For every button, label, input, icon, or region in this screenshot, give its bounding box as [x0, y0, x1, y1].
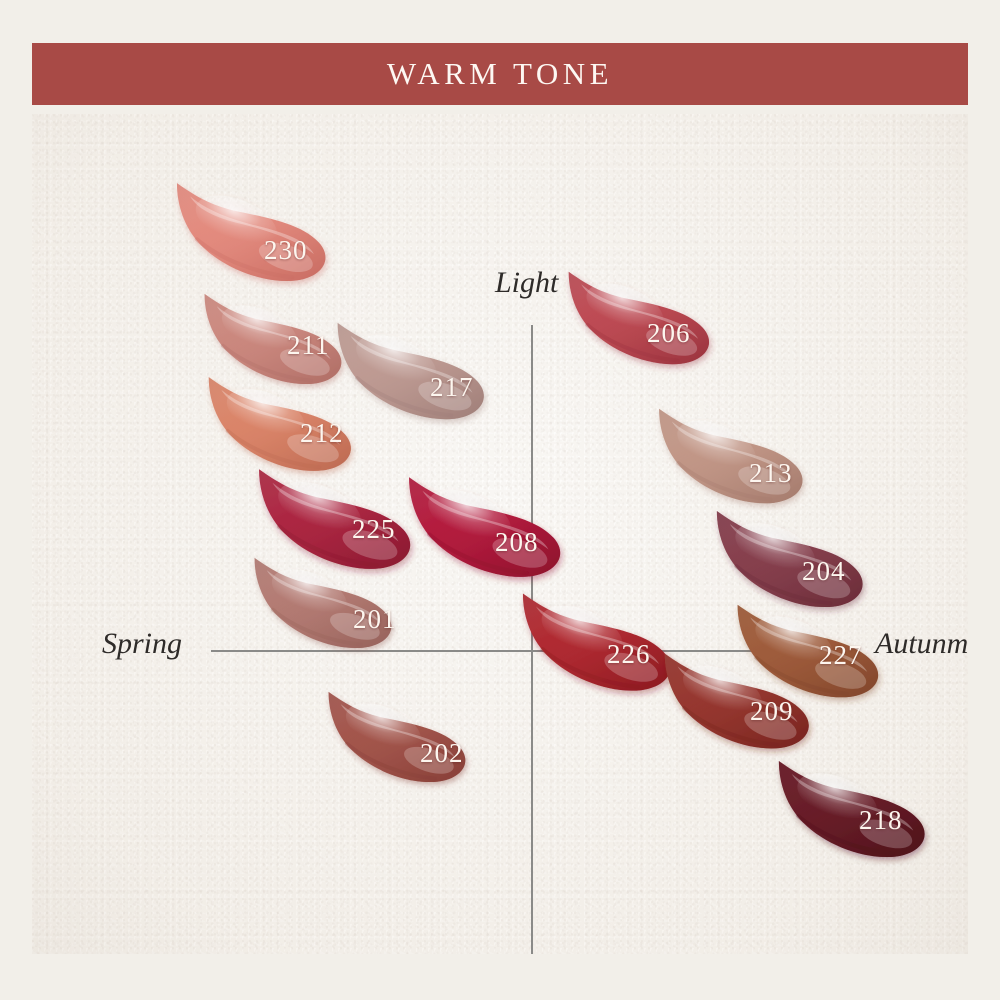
- lipstick-swatch-201[interactable]: [250, 552, 402, 652]
- lipstick-swatch-218[interactable]: [774, 756, 936, 860]
- lipstick-swatch-206[interactable]: [564, 266, 720, 368]
- lipstick-swatch-230[interactable]: [172, 176, 337, 286]
- axis-label-light: Light: [495, 266, 558, 300]
- lipstick-swatch-204[interactable]: [712, 506, 874, 610]
- poster-root: WARM TONE Light Dark Spring Autunm 23021…: [0, 0, 1000, 1000]
- lipstick-swatch-226[interactable]: [518, 588, 682, 694]
- lipstick-swatch-208[interactable]: [404, 470, 572, 582]
- chart-panel: Light Dark Spring Autunm 230211217212225…: [32, 114, 968, 954]
- header-bar: WARM TONE: [32, 43, 968, 105]
- lipstick-swatch-213[interactable]: [654, 404, 814, 506]
- lipstick-swatch-212[interactable]: [204, 372, 362, 474]
- lipstick-swatch-209[interactable]: [660, 648, 820, 752]
- page-title: WARM TONE: [387, 56, 613, 92]
- lipstick-swatch-202[interactable]: [324, 686, 476, 786]
- axis-label-spring: Spring: [102, 627, 182, 661]
